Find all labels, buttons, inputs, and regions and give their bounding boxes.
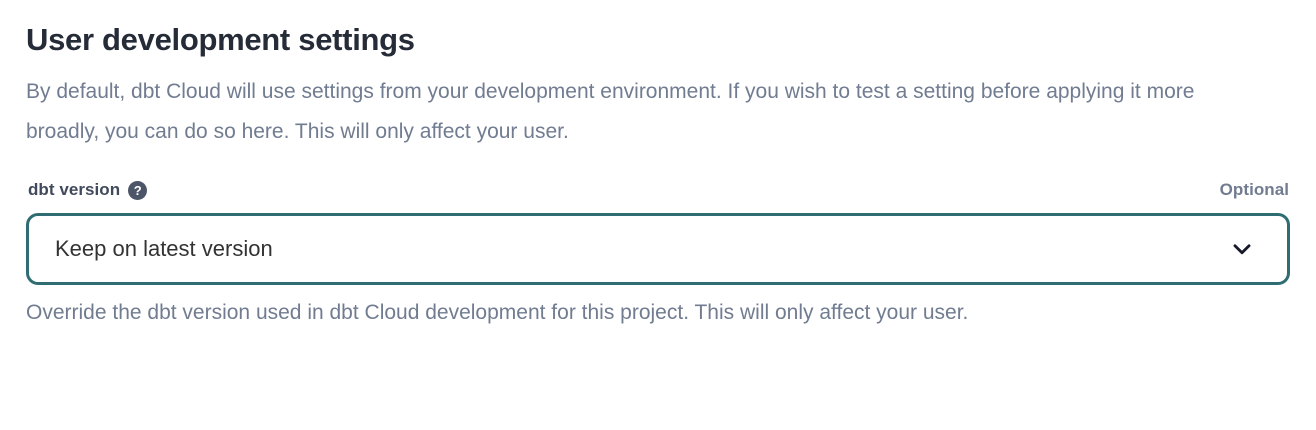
- user-development-settings-panel: User development settings By default, db…: [0, 0, 1316, 430]
- dbt-version-label: dbt version: [28, 180, 120, 200]
- chevron-down-icon[interactable]: [1229, 236, 1255, 262]
- page-title: User development settings: [26, 0, 1290, 62]
- section-description: By default, dbt Cloud will use settings …: [26, 62, 1236, 152]
- optional-badge: Optional: [1220, 180, 1289, 200]
- dbt-version-help-text: Override the dbt version used in dbt Clo…: [26, 285, 1290, 328]
- question-mark-circle-icon[interactable]: ?: [128, 181, 147, 200]
- dbt-version-label-row: dbt version ? Optional: [26, 178, 1290, 202]
- dbt-version-field: dbt version ? Optional Keep on latest ve…: [26, 178, 1290, 328]
- dbt-version-select[interactable]: Keep on latest version: [26, 213, 1290, 285]
- dbt-version-label-group: dbt version ?: [28, 180, 147, 200]
- dbt-version-select-value: Keep on latest version: [55, 236, 1229, 262]
